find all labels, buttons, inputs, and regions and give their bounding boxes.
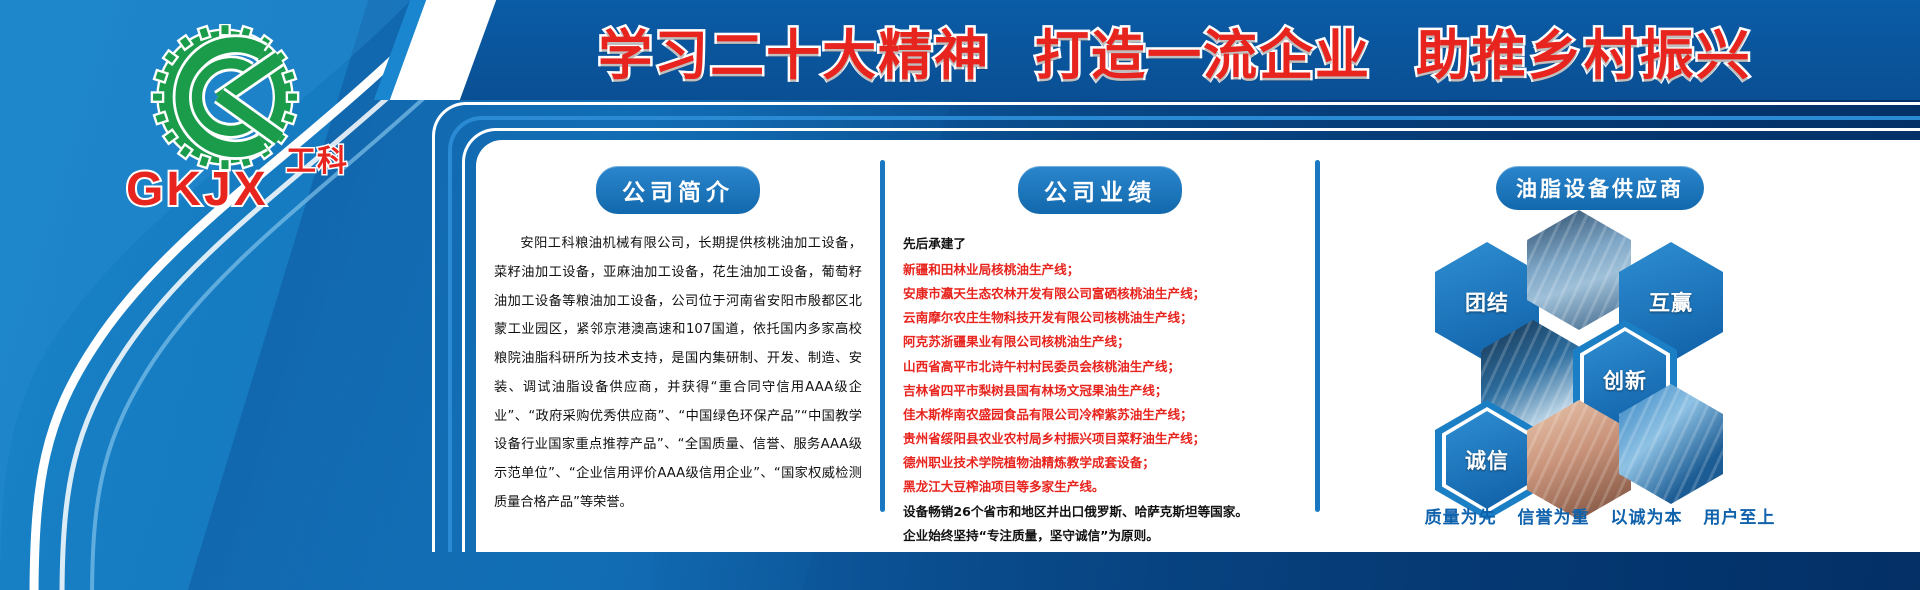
poster-stage: 工科 GKJX 学习二十大精神 打造一流企业 助推乡村振兴 公司简介 安阳工科粮… bbox=[0, 0, 1920, 590]
content-board: 公司简介 安阳工科粮油机械有限公司，长期提供核桃油加工设备，菜籽油加工设备，亚麻… bbox=[432, 100, 1920, 550]
panel-supplier: 油脂设备供应商 团结 互赢 bbox=[1320, 140, 1880, 552]
slogan-part-4: 用户至上 bbox=[1703, 508, 1775, 528]
ship-icon bbox=[1527, 210, 1631, 330]
slogan-part-3: 以诚为本 bbox=[1610, 508, 1682, 528]
list-item: 新疆和田林业局核桃油生产线； bbox=[903, 258, 1297, 282]
hex-label: 创新 bbox=[1603, 365, 1647, 395]
banner-title-part-2: 打造一流企业 bbox=[1035, 24, 1371, 87]
panel-intro-heading: 公司简介 bbox=[596, 166, 760, 214]
list-item: 德州职业技术学院植物油精炼教学成套设备； bbox=[903, 451, 1297, 475]
panel-company-intro: 公司简介 安阳工科粮油机械有限公司，长期提供核桃油加工设备，菜籽油加工设备，亚麻… bbox=[476, 140, 880, 552]
list-item: 黑龙江大豆榨油项目等多家生产线。 bbox=[903, 475, 1297, 499]
hex-label: 诚信 bbox=[1465, 445, 1509, 475]
achievements-footer-2: 企业始终坚持“专注质量，坚守诚信”为原则。 bbox=[903, 524, 1297, 548]
list-item: 安康市瀛天生态农林开发有限公司富硒核桃油生产线； bbox=[903, 282, 1297, 306]
slogan-part-2: 信誉为重 bbox=[1518, 508, 1590, 528]
banner-title-part-1: 学习二十大精神 bbox=[598, 24, 990, 87]
list-item: 阿克苏浙疆果业有限公司核桃油生产线； bbox=[903, 330, 1297, 354]
hex-photo-ship bbox=[1527, 210, 1631, 330]
supplier-slogan: 质量为先 信誉为重 以诚为本 用户至上 bbox=[1320, 503, 1880, 528]
banner-title-text: 学习二十大精神 打造一流企业 助推乡村振兴 bbox=[586, 11, 1764, 90]
panel-achievements-heading: 公司业绩 bbox=[1018, 166, 1182, 214]
list-item: 吉林省四平市梨树县国有林场文冠果油生产线； bbox=[903, 379, 1297, 403]
company-logo: 工科 GKJX bbox=[112, 24, 342, 209]
panel-supplier-heading: 油脂设备供应商 bbox=[1496, 166, 1704, 210]
list-item: 佳木斯桦南农盛园食品有限公司冷榨紫苏油生产线； bbox=[903, 403, 1297, 427]
banner-title-bar: 学习二十大精神 打造一流企业 助推乡村振兴 bbox=[430, 0, 1920, 100]
list-item: 山西省高平市北诗午村村民委员会核桃油生产线； bbox=[903, 355, 1297, 379]
panel-company-achievements: 公司业绩 先后承建了 新疆和田林业局核桃油生产线； 安康市瀛天生态农林开发有限公… bbox=[885, 140, 1315, 552]
banner-title-part-3: 助推乡村振兴 bbox=[1416, 24, 1752, 87]
achievements-intro: 先后承建了 bbox=[903, 232, 1297, 256]
logo-chinese-name: 工科 bbox=[286, 136, 348, 180]
achievements-footer-1: 设备畅销26个省市和地区并出口俄罗斯、哈萨克斯坦等国家。 bbox=[903, 500, 1297, 524]
logo-english-name: GKJX bbox=[126, 162, 269, 217]
slogan-part-1: 质量为先 bbox=[1425, 508, 1497, 528]
hex-label: 互赢 bbox=[1649, 287, 1693, 317]
achievements-list: 新疆和田林业局核桃油生产线； 安康市瀛天生态农林开发有限公司富硒核桃油生产线； … bbox=[903, 258, 1297, 500]
list-item: 云南摩尔农庄生物科技开发有限公司核桃油生产线； bbox=[903, 306, 1297, 330]
list-item: 贵州省绥阳县农业农村局乡村振兴项目菜籽油生产线； bbox=[903, 427, 1297, 451]
panel-intro-body: 安阳工科粮油机械有限公司，长期提供核桃油加工设备，菜籽油加工设备，亚麻油加工设备… bbox=[494, 230, 862, 518]
hex-badge-grid: 团结 互赢 创新 bbox=[1435, 224, 1765, 474]
hex-label: 团结 bbox=[1465, 287, 1509, 317]
